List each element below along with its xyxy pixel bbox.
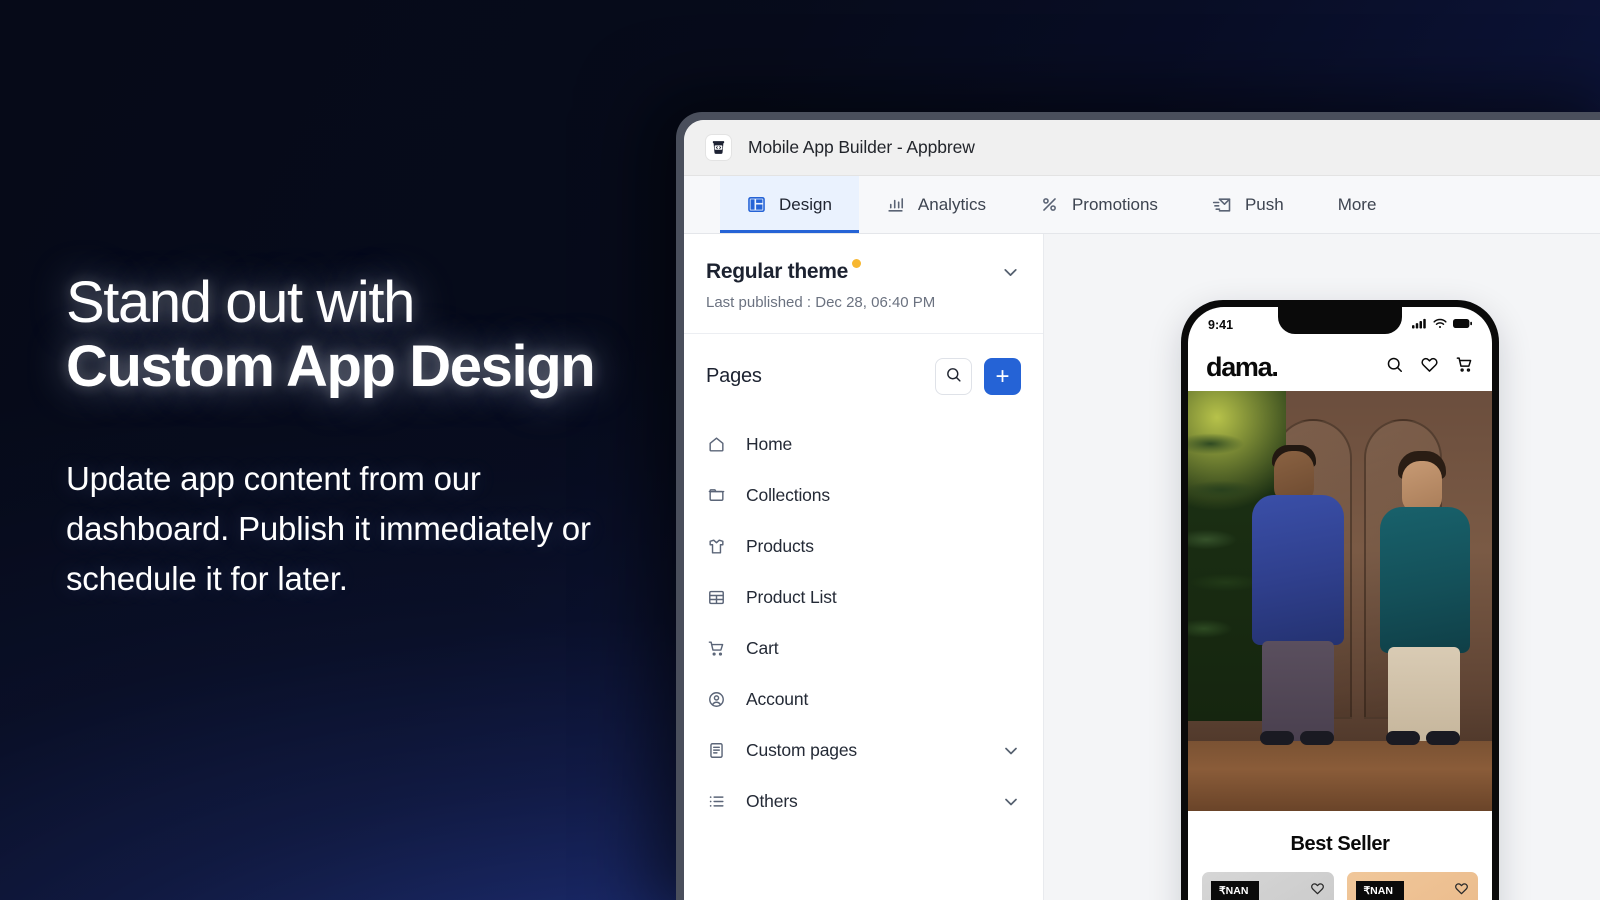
search-icon	[945, 366, 962, 388]
pages-list: Home Collections Products	[684, 409, 1043, 827]
sidebar-item-collections[interactable]: Collections	[684, 470, 1043, 521]
hero-model-left	[1244, 441, 1352, 741]
window-titlebar: Mobile App Builder - Appbrew	[684, 120, 1600, 176]
tab-analytics[interactable]: Analytics	[859, 176, 1013, 233]
cart-icon	[706, 639, 727, 658]
sidebar-item-cart[interactable]: Cart	[684, 623, 1043, 674]
add-page-button[interactable]: +	[984, 358, 1021, 395]
theme-selector[interactable]: Regular theme Last published : Dec 28, 0…	[684, 234, 1043, 334]
layout-icon	[747, 195, 766, 214]
marketing-copy: Stand out with Custom App Design Update …	[66, 272, 666, 605]
search-pages-button[interactable]	[935, 358, 972, 395]
chevron-down-icon[interactable]	[1001, 741, 1021, 761]
headline-line-1: Stand out with	[66, 272, 666, 334]
model-legs	[1388, 647, 1460, 741]
folder-icon	[706, 486, 727, 505]
tab-label: Push	[1245, 195, 1284, 215]
sidebar-item-label: Cart	[746, 638, 778, 659]
phone-preview: 9:41	[1181, 300, 1499, 900]
pages-header: Pages +	[684, 334, 1043, 409]
browser-window: Mobile App Builder - Appbrew Design Anal…	[676, 112, 1600, 900]
percent-icon	[1040, 195, 1059, 214]
model-shoe	[1260, 731, 1294, 745]
grid-icon	[706, 588, 727, 607]
envelope-send-icon	[1212, 195, 1232, 215]
product-card[interactable]: ₹NAN	[1347, 872, 1479, 900]
sidebar-item-label: Product List	[746, 587, 837, 608]
tab-promotions[interactable]: Promotions	[1013, 176, 1185, 233]
wifi-icon	[1433, 318, 1447, 332]
sidebar-item-label: Custom pages	[746, 740, 857, 761]
sidebar-item-label: Account	[746, 689, 808, 710]
best-seller-grid: ₹NAN ₹NAN	[1188, 872, 1492, 900]
product-price: ₹NAN	[1211, 881, 1259, 900]
browser-window-inner: Mobile App Builder - Appbrew Design Anal…	[684, 120, 1600, 900]
home-icon	[706, 435, 727, 454]
search-icon[interactable]	[1385, 355, 1404, 379]
hero-banner-image	[1188, 391, 1492, 811]
heart-icon[interactable]	[1454, 881, 1469, 900]
sidebar-item-account[interactable]: Account	[684, 674, 1043, 725]
theme-header-row: Regular theme	[706, 260, 1021, 284]
user-circle-icon	[706, 690, 727, 709]
tab-design[interactable]: Design	[720, 176, 859, 233]
design-sidebar: Regular theme Last published : Dec 28, 0…	[684, 234, 1044, 900]
pages-actions: +	[935, 358, 1021, 395]
model-torso	[1380, 507, 1470, 653]
model-legs	[1262, 641, 1334, 741]
tab-more[interactable]: More	[1311, 176, 1404, 233]
model-torso	[1252, 495, 1344, 645]
sidebar-item-label: Home	[746, 434, 792, 455]
document-icon	[706, 741, 727, 760]
bar-chart-icon	[886, 195, 905, 214]
coffee-cup-code-icon	[706, 135, 731, 160]
chevron-down-icon[interactable]	[1001, 792, 1021, 812]
sidebar-item-others[interactable]: Others	[684, 776, 1043, 827]
sidebar-item-label: Products	[746, 536, 814, 557]
status-time: 9:41	[1208, 318, 1233, 332]
brand-logo: dama.	[1206, 352, 1278, 383]
theme-name: Regular theme	[706, 260, 848, 284]
section-title-best-seller: Best Seller	[1188, 811, 1492, 872]
last-published-text: Last published : Dec 28, 06:40 PM	[706, 294, 1021, 311]
list-icon	[706, 792, 727, 811]
phone-screen: 9:41	[1188, 307, 1492, 900]
sidebar-item-custom-pages[interactable]: Custom pages	[684, 725, 1043, 776]
tab-label: Promotions	[1072, 195, 1158, 215]
tab-push[interactable]: Push	[1185, 176, 1311, 233]
heart-icon[interactable]	[1420, 355, 1439, 379]
app-header-actions	[1385, 355, 1474, 379]
status-badge	[852, 259, 861, 268]
model-shoe	[1426, 731, 1460, 745]
main-tabs: Design Analytics Promotions	[684, 176, 1600, 234]
heart-icon[interactable]	[1310, 881, 1325, 900]
hero-model-right	[1374, 451, 1478, 741]
product-card[interactable]: ₹NAN	[1202, 872, 1334, 900]
app-header: dama.	[1188, 343, 1492, 391]
tab-label: Analytics	[918, 195, 986, 215]
theme-name-text: Regular theme	[706, 260, 848, 283]
sidebar-item-label: Others	[746, 791, 798, 812]
model-shoe	[1300, 731, 1334, 745]
tshirt-icon	[706, 537, 727, 556]
chevron-down-icon[interactable]	[1000, 262, 1021, 283]
status-indicators	[1412, 318, 1472, 332]
sidebar-item-label: Collections	[746, 485, 830, 506]
phone-notch	[1278, 307, 1402, 334]
preview-canvas: 9:41	[1044, 234, 1600, 900]
battery-icon	[1453, 318, 1472, 332]
model-head	[1402, 461, 1442, 513]
model-shoe	[1386, 731, 1420, 745]
signal-icon	[1412, 318, 1427, 332]
sidebar-item-products[interactable]: Products	[684, 521, 1043, 572]
headline-line-2: Custom App Design	[66, 336, 666, 398]
sidebar-item-home[interactable]: Home	[684, 419, 1043, 470]
cart-icon[interactable]	[1455, 355, 1474, 379]
tab-label: More	[1338, 195, 1377, 215]
window-body: Regular theme Last published : Dec 28, 0…	[684, 234, 1600, 900]
pages-title: Pages	[706, 365, 762, 388]
window-title: Mobile App Builder - Appbrew	[748, 137, 975, 158]
hero-floor	[1188, 741, 1492, 811]
tab-label: Design	[779, 195, 832, 215]
marketing-subtext: Update app content from our dashboard. P…	[66, 454, 606, 604]
sidebar-item-product-list[interactable]: Product List	[684, 572, 1043, 623]
product-price: ₹NAN	[1356, 881, 1404, 900]
